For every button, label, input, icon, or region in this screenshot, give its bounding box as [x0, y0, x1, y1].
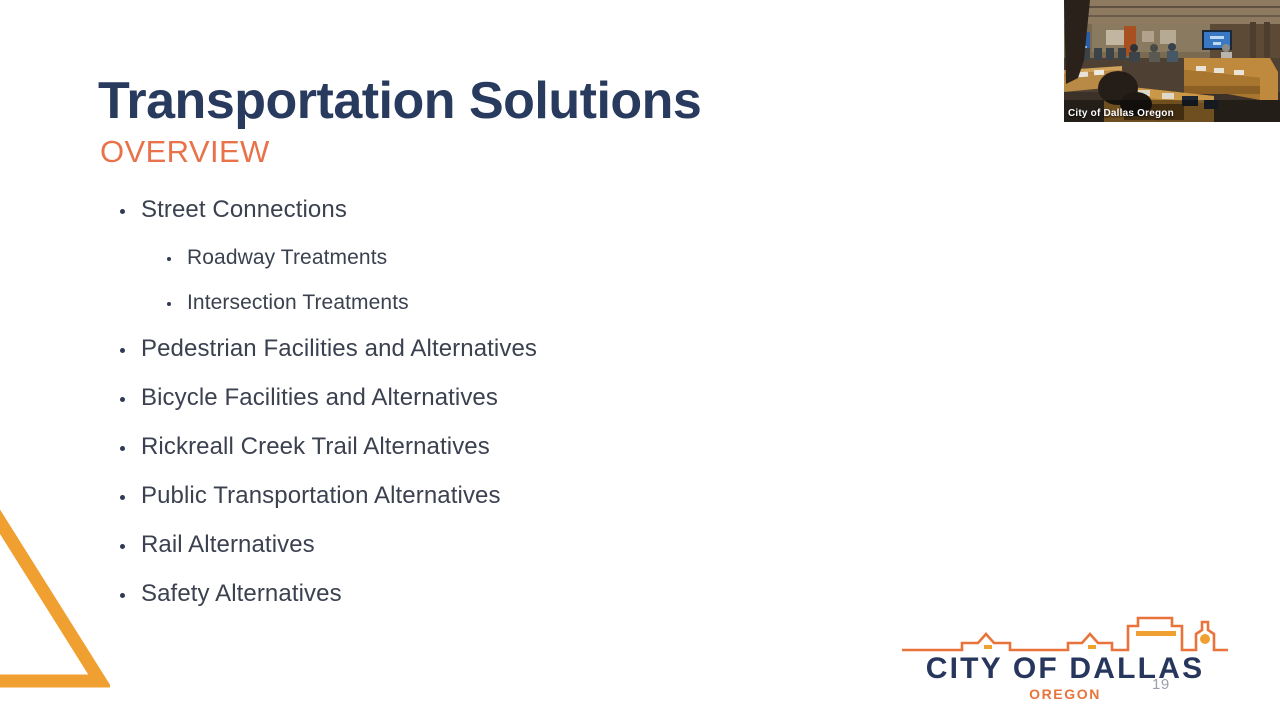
bullet-dot-icon	[120, 544, 125, 549]
list-item: Public Transportation Alternatives	[120, 484, 880, 508]
orange-triangle-decoration	[0, 495, 110, 695]
bullet-dot-icon	[167, 302, 171, 306]
list-item: Pedestrian Facilities and Alternatives	[120, 337, 880, 361]
page-number: 19	[1152, 676, 1170, 693]
city-of-dallas-logo: CITY OF DALLAS OREGON	[900, 610, 1230, 700]
bullet-list: Street Connections Roadway Treatments In…	[120, 198, 880, 631]
list-item-label: Bicycle Facilities and Alternatives	[141, 386, 498, 410]
list-item: Safety Alternatives	[120, 582, 880, 606]
bullet-dot-icon	[120, 593, 125, 598]
list-item: Street Connections	[120, 198, 880, 222]
page-subtitle: OVERVIEW	[100, 135, 918, 169]
bullet-dot-icon	[120, 348, 125, 353]
video-thumbnail[interactable]: City of Dallas Oregon	[1064, 0, 1280, 122]
bullet-dot-icon	[120, 495, 125, 500]
list-item: Rickreall Creek Trail Alternatives	[120, 435, 880, 459]
bullet-dot-icon	[167, 257, 171, 261]
logo-state-label: OREGON	[900, 686, 1230, 702]
list-item-label: Public Transportation Alternatives	[141, 484, 501, 508]
list-item: Intersection Treatments	[120, 292, 880, 313]
list-item-label: Intersection Treatments	[187, 292, 409, 313]
list-item-label: Roadway Treatments	[187, 247, 387, 268]
bullet-dot-icon	[120, 446, 125, 451]
video-caption: City of Dallas Oregon	[1064, 106, 1280, 122]
list-item: Bicycle Facilities and Alternatives	[120, 386, 880, 410]
list-item-label: Street Connections	[141, 198, 347, 222]
list-item-label: Rickreall Creek Trail Alternatives	[141, 435, 490, 459]
bullet-dot-icon	[120, 397, 125, 402]
triangle-icon	[0, 495, 110, 695]
list-item: Rail Alternatives	[120, 533, 880, 557]
list-item-label: Safety Alternatives	[141, 582, 342, 606]
list-item-label: Pedestrian Facilities and Alternatives	[141, 337, 537, 361]
skyline-icon	[900, 610, 1230, 656]
logo-wordmark: CITY OF DALLAS	[900, 652, 1230, 686]
page-title: Transportation Solutions	[98, 74, 918, 129]
list-item-label: Rail Alternatives	[141, 533, 315, 557]
council-chamber-image	[1064, 0, 1280, 122]
list-item: Roadway Treatments	[120, 247, 880, 268]
presentation-slide: Transportation Solutions OVERVIEW Street…	[0, 0, 1280, 720]
title-block: Transportation Solutions OVERVIEW	[98, 74, 918, 169]
bullet-dot-icon	[120, 209, 125, 214]
